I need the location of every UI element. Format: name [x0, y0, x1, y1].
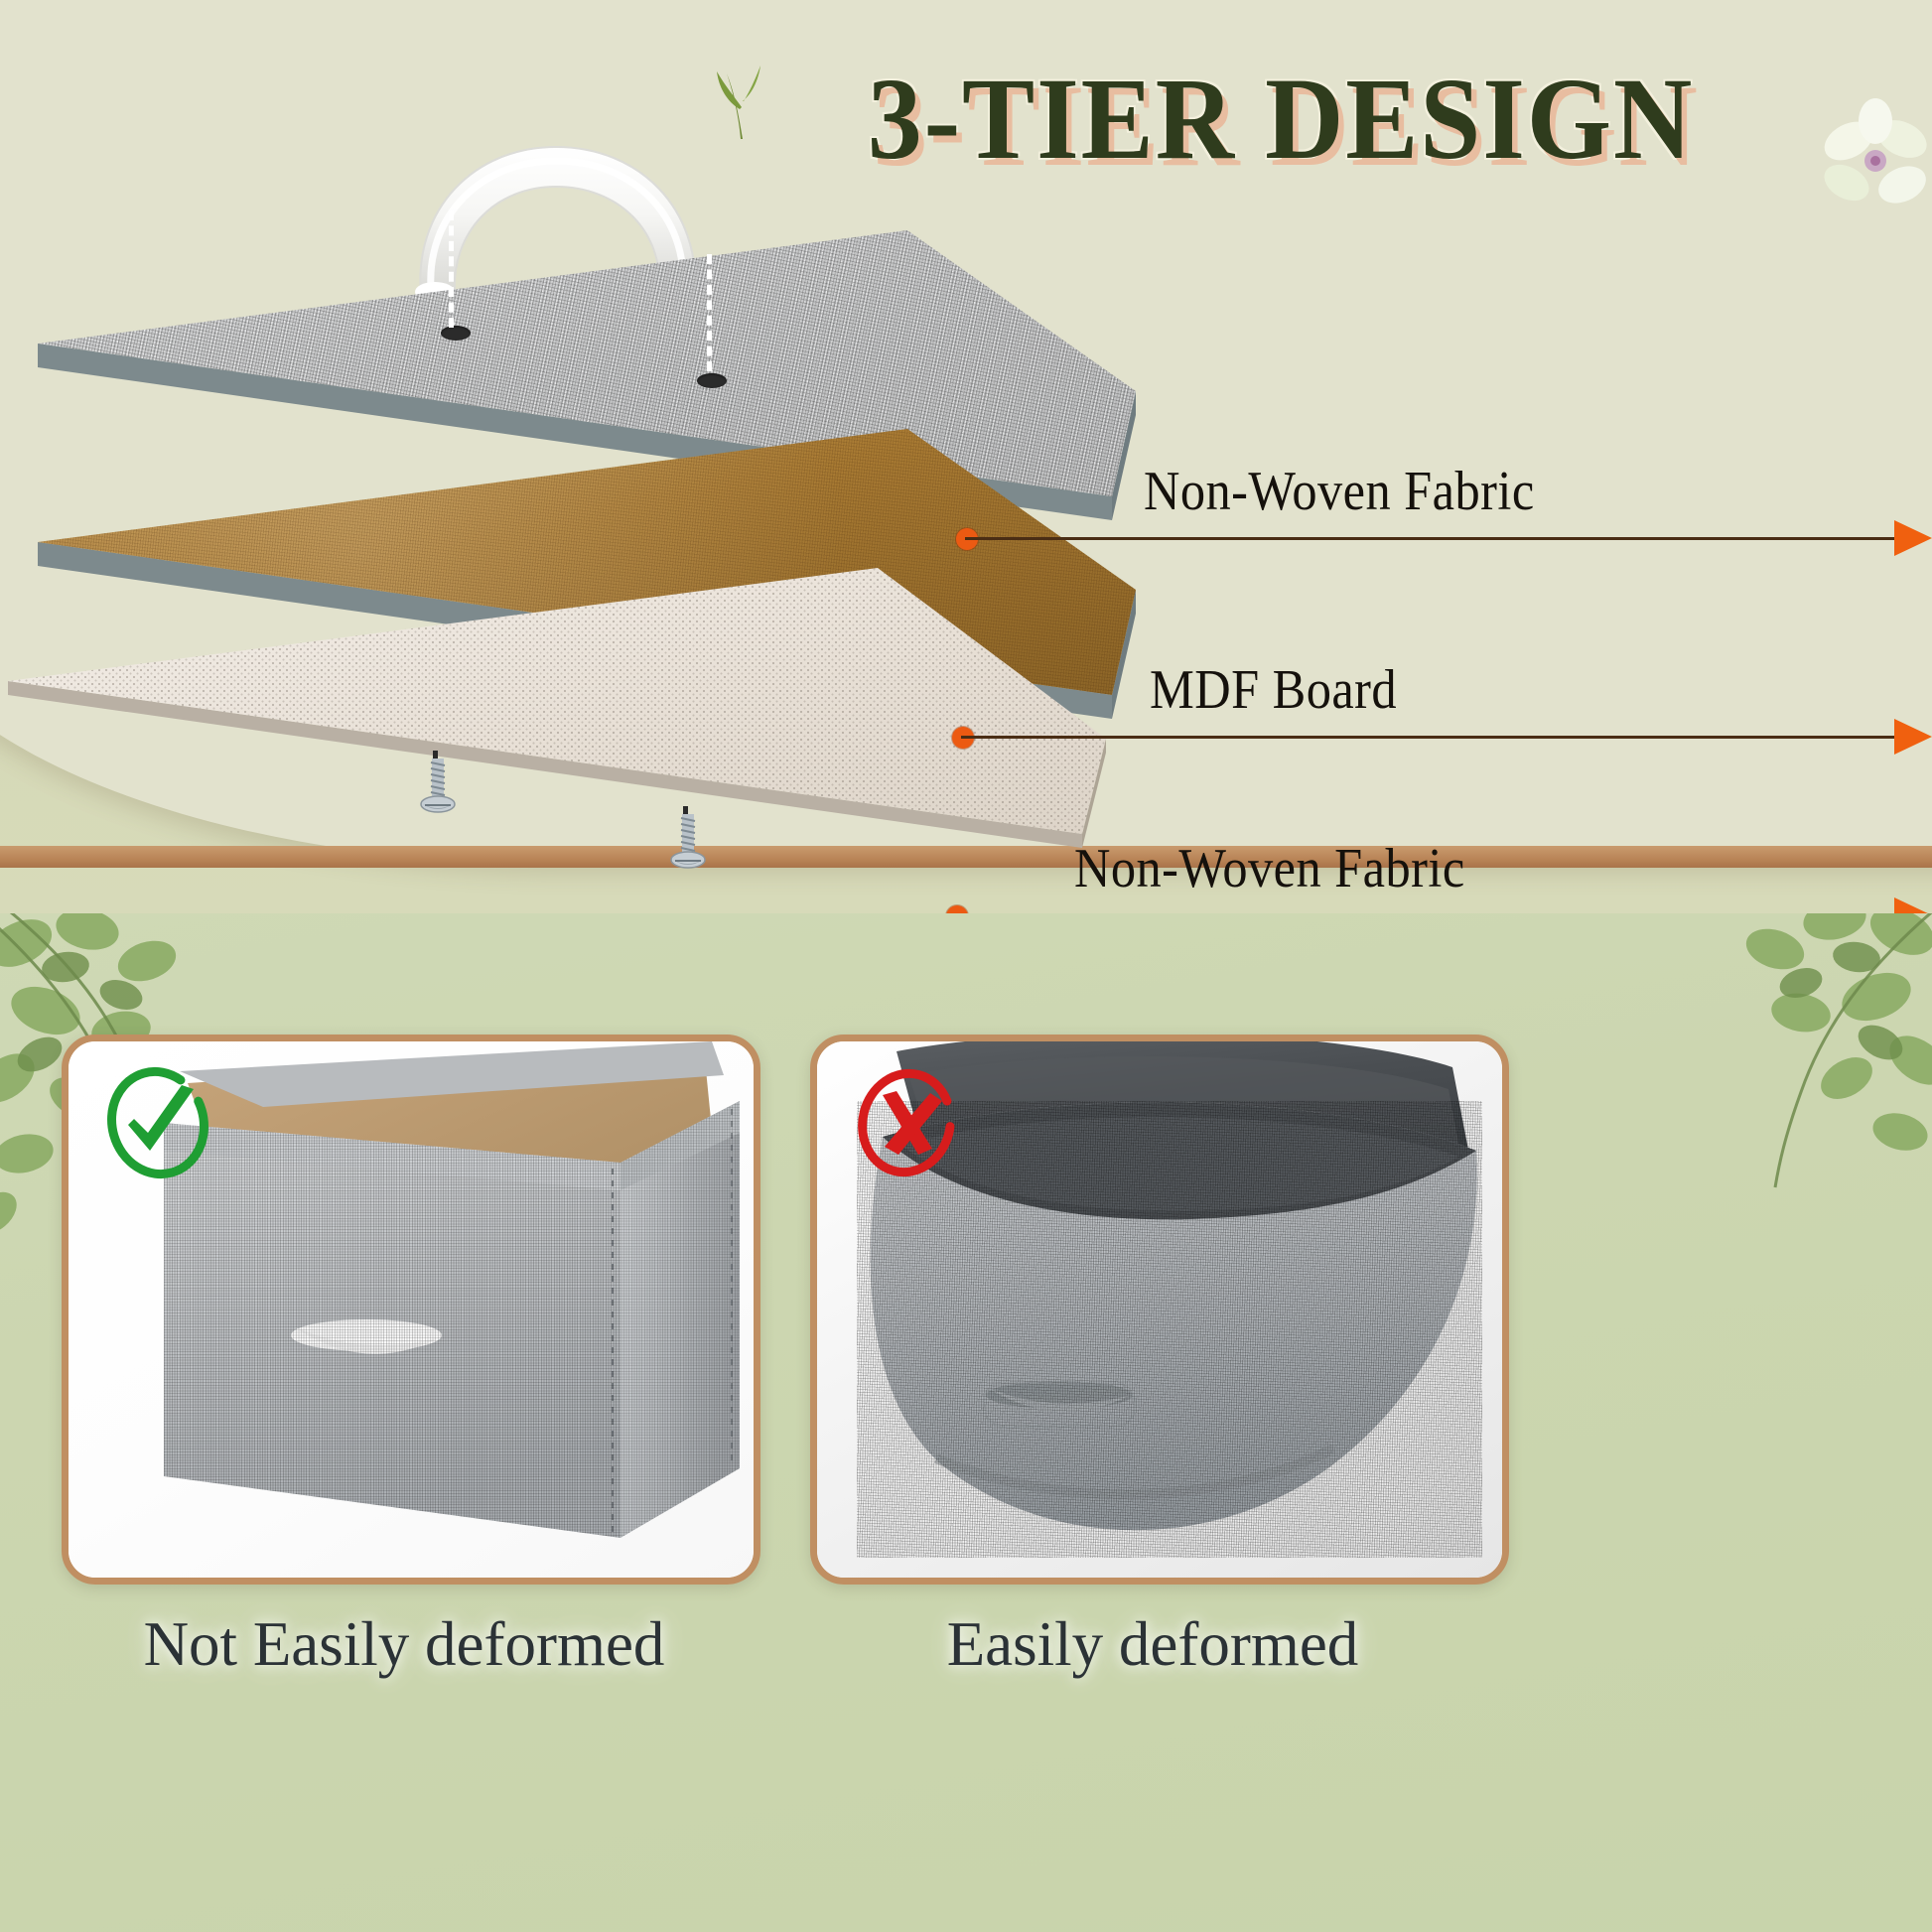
white-flower-icon — [1811, 95, 1932, 224]
screw-icon-right — [665, 810, 711, 880]
caption-bad: Easily deformed — [810, 1608, 1495, 1698]
photo-card-bad[interactable] — [810, 1035, 1509, 1585]
green-check-badge-icon — [98, 1063, 217, 1182]
infographic-root: 3-TIER DESIGN — [0, 0, 1932, 1932]
page-title: 3-TIER DESIGN — [635, 52, 1926, 191]
red-cross-badge-icon — [847, 1063, 966, 1182]
callout-label-2: MDF Board — [1150, 658, 1397, 722]
comparison-section: Not Easily deformed Easily deformed — [0, 913, 1932, 1932]
photo-card-good[interactable] — [62, 1035, 760, 1585]
caption-good: Not Easily deformed — [62, 1608, 747, 1698]
callout-arrow-1 — [1894, 520, 1932, 556]
title-text: 3-TIER DESIGN — [681, 52, 1881, 187]
alignment-dash-right — [707, 254, 712, 371]
screw-hole-right — [697, 373, 727, 388]
alignment-dash-left — [449, 210, 454, 328]
callout-label-3: Non-Woven Fabric — [1074, 837, 1465, 900]
bottom-fabric-panel — [0, 564, 1132, 882]
callout-arrow-2 — [1894, 719, 1932, 755]
eucalyptus-vine-icon-right — [1614, 913, 1932, 1195]
top-section: 3-TIER DESIGN — [0, 0, 1932, 933]
screw-icon-left — [415, 755, 461, 824]
callout-label-1: Non-Woven Fabric — [1144, 460, 1535, 523]
screw-hole-left — [441, 326, 471, 341]
